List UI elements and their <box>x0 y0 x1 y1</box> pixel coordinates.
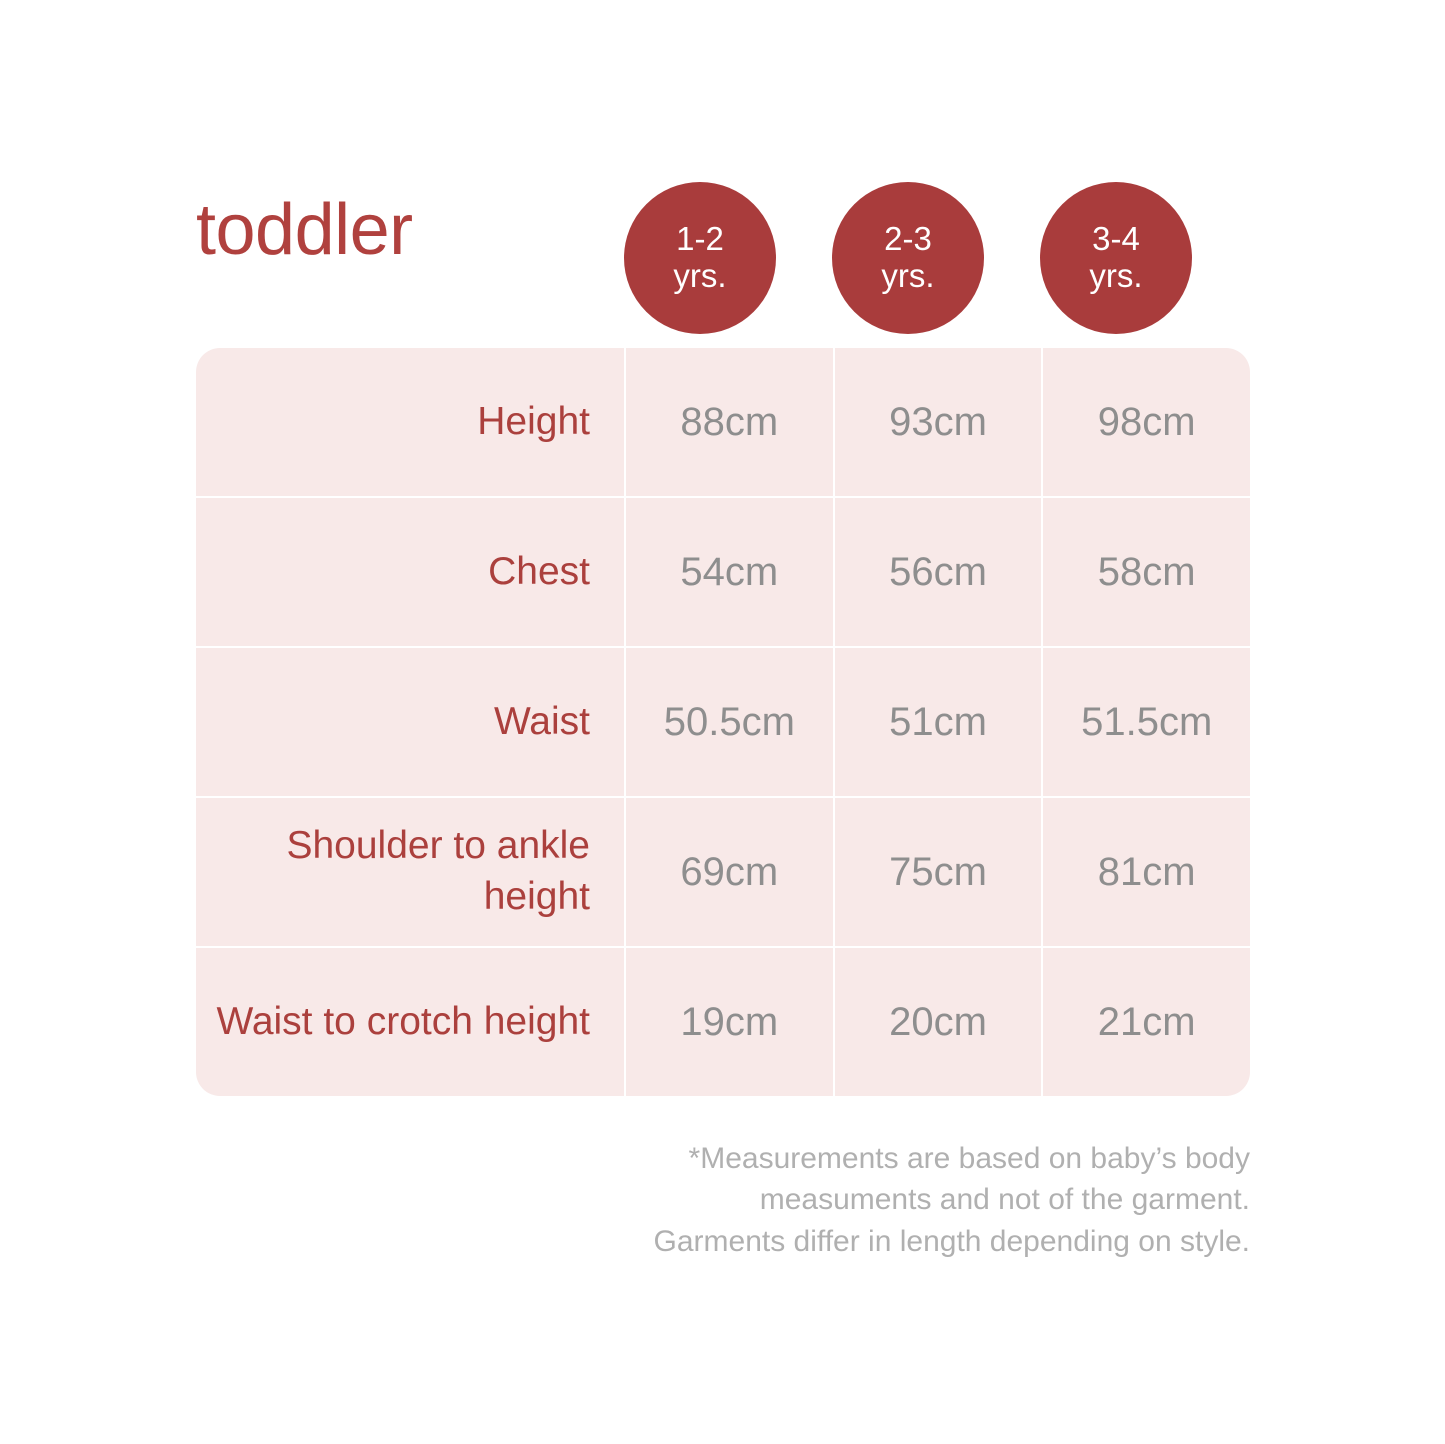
age-range-label: 2-3 <box>884 221 932 258</box>
measurements-table: Height 88cm 93cm 98cm Chest 54cm 56cm 58… <box>196 348 1250 1096</box>
footnote-line: Garments differ in length depending on s… <box>470 1221 1250 1262</box>
measurement-label: Shoulder to ankle height <box>196 798 624 946</box>
measurement-value: 51cm <box>833 648 1042 796</box>
measurement-value: 51.5cm <box>1041 648 1250 796</box>
measurement-value: 54cm <box>624 498 833 646</box>
measurement-value: 56cm <box>833 498 1042 646</box>
table-row: Waist to crotch height 19cm 20cm 21cm <box>196 948 1250 1096</box>
age-unit-label: yrs. <box>673 258 726 295</box>
page-title: toddler <box>196 194 413 266</box>
measurement-label: Waist <box>196 648 624 796</box>
measurement-value: 98cm <box>1041 348 1250 496</box>
measurement-value: 58cm <box>1041 498 1250 646</box>
measurement-label: Height <box>196 348 624 496</box>
age-badge-3-4: 3-4 yrs. <box>1040 182 1192 334</box>
age-badge-1-2: 1-2 yrs. <box>624 182 776 334</box>
age-badge-2-3: 2-3 yrs. <box>832 182 984 334</box>
measurement-label: Waist to crotch height <box>196 948 624 1096</box>
chart-header: toddler 1-2 yrs. 2-3 yrs. 3-4 yrs. <box>196 178 1250 340</box>
table-row: Waist 50.5cm 51cm 51.5cm <box>196 648 1250 798</box>
table-row: Height 88cm 93cm 98cm <box>196 348 1250 498</box>
measurement-value: 93cm <box>833 348 1042 496</box>
measurement-value: 81cm <box>1041 798 1250 946</box>
measurement-value: 50.5cm <box>624 648 833 796</box>
table-row: Chest 54cm 56cm 58cm <box>196 498 1250 648</box>
measurement-value: 21cm <box>1041 948 1250 1096</box>
measurement-value: 19cm <box>624 948 833 1096</box>
age-unit-label: yrs. <box>881 258 934 295</box>
size-chart-page: toddler 1-2 yrs. 2-3 yrs. 3-4 yrs. Heigh… <box>0 0 1445 1444</box>
footnote-line: measuments and not of the garment. <box>470 1179 1250 1220</box>
footnote: *Measurements are based on baby’s body m… <box>470 1138 1250 1262</box>
measurement-value: 88cm <box>624 348 833 496</box>
measurement-value: 20cm <box>833 948 1042 1096</box>
footnote-line: *Measurements are based on baby’s body <box>470 1138 1250 1179</box>
age-range-label: 3-4 <box>1092 221 1140 258</box>
table-row: Shoulder to ankle height 69cm 75cm 81cm <box>196 798 1250 948</box>
age-column-headers: 1-2 yrs. 2-3 yrs. 3-4 yrs. <box>624 178 1250 340</box>
measurement-value: 75cm <box>833 798 1042 946</box>
age-unit-label: yrs. <box>1089 258 1142 295</box>
measurement-label: Chest <box>196 498 624 646</box>
measurement-value: 69cm <box>624 798 833 946</box>
age-range-label: 1-2 <box>676 221 724 258</box>
